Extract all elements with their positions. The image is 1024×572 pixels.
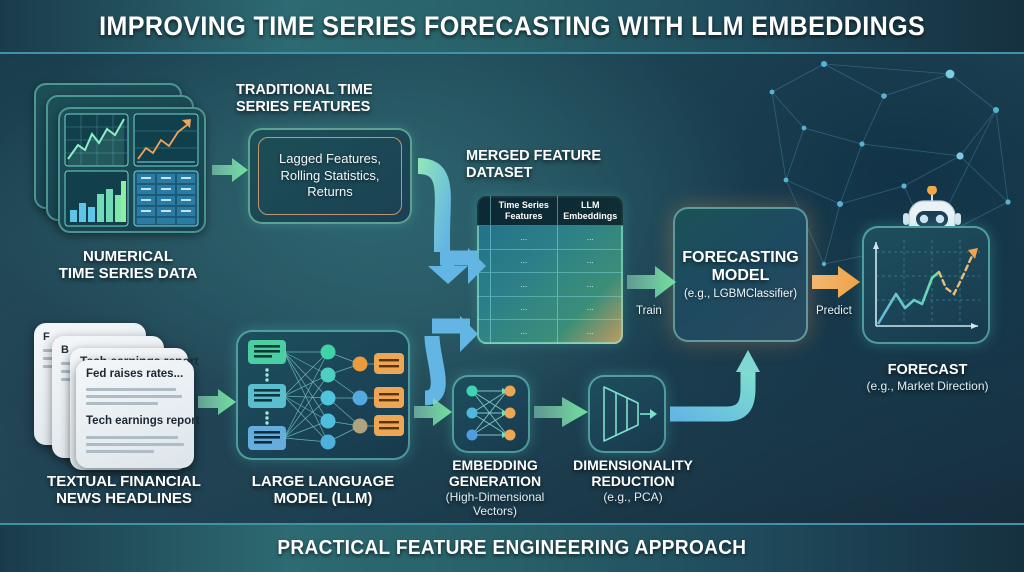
table-row: ... ... <box>477 297 623 321</box>
forecast-sublabel: (e.g., Market Direction) <box>855 380 1000 394</box>
col1-line2: Features <box>505 211 543 221</box>
table-header-row: Time SeriesFeatures LLMEmbeddings <box>477 196 623 226</box>
forecast-chart <box>862 226 990 344</box>
news-headline-2: Tech earnings report <box>86 415 200 427</box>
forecasting-model-line1: FORECASTING <box>682 249 798 266</box>
numerical-data-label-line1: NUMERICAL <box>83 248 173 265</box>
news-label-line2: NEWS HEADLINES <box>56 490 192 507</box>
col2-line2: Embeddings <box>563 211 617 221</box>
arrow-features-to-merged <box>414 166 486 284</box>
dimred-label-line1: DIMENSIONALITY <box>573 457 693 473</box>
arrow-dimred-to-model <box>670 350 760 414</box>
news-headline-1: Fed raises rates... <box>86 368 183 380</box>
dimred-label-line2: REDUCTION <box>591 473 674 489</box>
traditional-features-line1: Lagged Features, <box>279 151 381 166</box>
infographic-canvas: IMPROVING TIME SERIES FORECASTING WITH L… <box>0 0 1024 572</box>
neural-network-icon <box>236 330 410 460</box>
traditional-features-title-line2: SERIES FEATURES <box>236 99 370 115</box>
cell-timeseries: ... <box>491 297 558 321</box>
footer-title: PRACTICAL FEATURE ENGINEERING APPROACH <box>277 537 746 560</box>
embedding-sublabel: (High-Dimensional Vectors) <box>425 491 565 518</box>
traditional-features-box: Lagged Features, Rolling Statistics, Ret… <box>248 128 412 224</box>
dimred-sublabel: (e.g., PCA) <box>553 491 713 505</box>
traditional-features-title-line1: TRADITIONAL TIME <box>236 82 373 98</box>
traditional-features-line3: Returns <box>307 184 353 199</box>
llm-label-line2: MODEL (LLM) <box>274 490 373 507</box>
cell-timeseries: ... <box>491 250 558 274</box>
traditional-features-line2: Rolling Statistics, <box>281 168 380 183</box>
col1-line1: Time Series <box>499 200 549 210</box>
embedding-network-icon <box>452 375 530 453</box>
data-table-icon <box>134 171 198 226</box>
traditional-features-title: TRADITIONAL TIME SERIES FEATURES <box>236 82 436 115</box>
arrow-llm-to-embedding <box>414 398 452 426</box>
arrow-data-to-features <box>212 158 248 182</box>
forecasting-model-box: FORECASTING MODEL (e.g., LGBMClassifier) <box>673 207 808 342</box>
line-chart-icon <box>65 114 128 166</box>
funnel-icon <box>588 375 666 453</box>
trend-arrow-icon <box>134 114 198 166</box>
predict-arrow-label: Predict <box>816 305 852 317</box>
news-card-back2-letter: B <box>61 344 69 356</box>
row-index <box>477 250 491 274</box>
page-title: IMPROVING TIME SERIES FORECASTING WITH L… <box>99 11 925 42</box>
header-banner: IMPROVING TIME SERIES FORECASTING WITH L… <box>0 0 1024 54</box>
row-index <box>477 297 491 321</box>
numerical-data-label-line2: TIME SERIES DATA <box>59 265 198 282</box>
timeseries-card-front <box>58 107 206 233</box>
news-card-front: Fed raises rates... Tech earnings report <box>76 360 194 468</box>
forecast-label-line1: FORECAST <box>888 362 968 378</box>
merged-dataset-title-line1: MERGED FEATURE <box>466 148 601 164</box>
merged-dataset-title: MERGED FEATURE DATASET <box>466 148 646 181</box>
news-headlines-label: TEXTUAL FINANCIAL NEWS HEADLINES <box>14 473 234 507</box>
forecast-chart-panel <box>862 226 990 344</box>
table-header-embeddings: LLMEmbeddings <box>558 196 624 226</box>
embedding-label-line2: GENERATION <box>449 473 541 489</box>
train-arrow-label: Train <box>636 305 662 317</box>
cell-embeddings: ... <box>558 297 624 321</box>
forecast-label: FORECAST (e.g., Market Direction) <box>855 362 1000 393</box>
embedding-label-line1: EMBEDDING <box>452 457 538 473</box>
dimensionality-reduction-box <box>588 375 666 453</box>
table-row: ... ... <box>477 273 623 297</box>
row-index <box>477 273 491 297</box>
table-row: ... ... <box>477 250 623 274</box>
numerical-data-label: NUMERICAL TIME SERIES DATA <box>18 248 238 282</box>
llm-input-blocks <box>248 340 286 450</box>
cell-embeddings: ... <box>558 273 624 297</box>
footer-banner: PRACTICAL FEATURE ENGINEERING APPROACH <box>0 523 1024 572</box>
table-row: ... ... <box>477 226 623 250</box>
news-card-back3-letter: F <box>43 331 50 343</box>
cell-timeseries: ... <box>491 226 558 250</box>
llm-label-line1: LARGE LANGUAGE <box>252 473 395 490</box>
llm-label: LARGE LANGUAGE MODEL (LLM) <box>232 473 414 507</box>
table-row: ... ... <box>477 320 623 344</box>
embedding-generation-label: EMBEDDING GENERATION (High-Dimensional V… <box>425 458 565 518</box>
llm-output-blocks <box>374 353 404 436</box>
embedding-generation-box <box>452 375 530 453</box>
table-header-index <box>477 196 491 226</box>
arrow-train <box>627 266 676 298</box>
merged-dataset-title-line2: DATASET <box>466 165 532 181</box>
arrow-embedding-to-dimred <box>534 397 588 427</box>
llm-hidden-nodes <box>321 345 336 450</box>
forecasting-model-sub: (e.g., LGBMClassifier) <box>684 288 797 300</box>
cell-embeddings: ... <box>558 250 624 274</box>
cell-embeddings: ... <box>558 226 624 250</box>
bar-chart-icon <box>65 171 128 226</box>
arrow-predict <box>812 266 860 298</box>
row-index <box>477 226 491 250</box>
cell-timeseries: ... <box>491 320 558 344</box>
cell-timeseries: ... <box>491 273 558 297</box>
llm-output-nodes <box>353 357 368 434</box>
forecasting-model-line2: MODEL <box>712 267 770 284</box>
cell-embeddings: ... <box>558 320 624 344</box>
col2-line1: LLM <box>581 200 600 210</box>
news-label-line1: TEXTUAL FINANCIAL <box>47 473 201 490</box>
dimensionality-reduction-label: DIMENSIONALITY REDUCTION (e.g., PCA) <box>553 458 713 505</box>
arrow-news-to-llm <box>198 389 236 415</box>
merged-dataset-table: Time SeriesFeatures LLMEmbeddings ... ..… <box>477 196 623 344</box>
traditional-features-inner: Lagged Features, Rolling Statistics, Ret… <box>258 137 402 215</box>
table-header-timeseries: Time SeriesFeatures <box>491 196 558 226</box>
chart-collage <box>58 107 206 233</box>
row-index <box>477 320 491 344</box>
llm-box <box>236 330 410 460</box>
